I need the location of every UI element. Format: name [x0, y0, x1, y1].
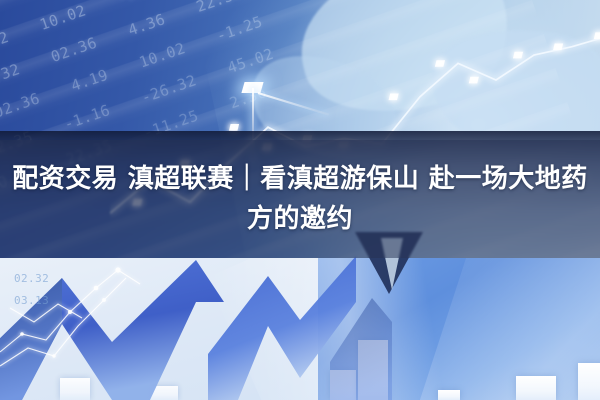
ticker-value: 10.02: [37, 1, 88, 34]
ticker-value: -50.02: [26, 0, 86, 2]
ticker-value: 4.36: [126, 10, 168, 39]
page-title-line-2: 方的邀约: [247, 199, 353, 239]
bar-column: [516, 376, 556, 400]
ticker-value: 4.19: [69, 66, 111, 95]
bar-column: [578, 363, 600, 400]
ticker-value: -1.16: [62, 101, 113, 134]
bar-column: [438, 390, 460, 400]
ticker-value: 10.02: [137, 39, 188, 72]
title-overlay-band: 配资交易 滇超联赛｜看滇超游保山 赴一场大地药 方的邀约: [0, 140, 600, 258]
ticker-value: -26.32: [139, 71, 199, 107]
ticker-value: -26.32: [0, 60, 22, 96]
sparkline-label: 03.13: [14, 294, 49, 307]
ticker-value: -26.32: [115, 0, 175, 7]
sparkline-label: 02.32: [14, 272, 49, 285]
ticker-value: 02.36: [49, 33, 100, 66]
financial-banner: -45.02-2.36-11.2545.02-02.3621.19 -2.36-…: [0, 0, 600, 400]
page-title-line-1: 配资交易 滇超联赛｜看滇超游保山 赴一场大地药: [12, 159, 588, 199]
zigzag-ribbon-arrows: [0, 250, 420, 400]
ticker-value: 02.36: [0, 89, 42, 122]
ticker-value: -50.02: [0, 28, 11, 64]
